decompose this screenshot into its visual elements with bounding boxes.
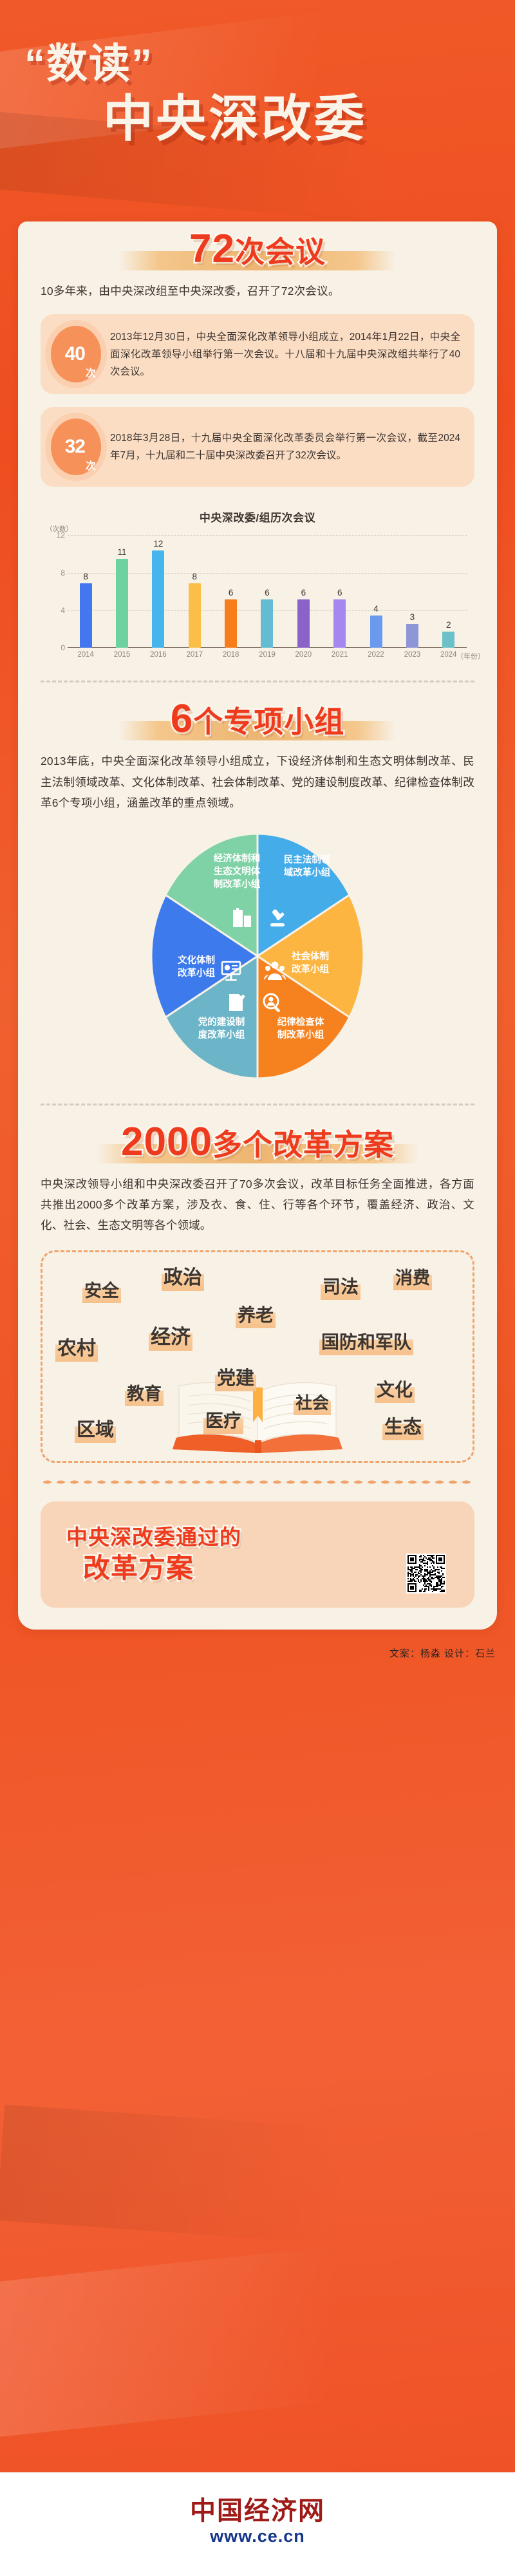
keyword-tag: 司法 bbox=[321, 1273, 360, 1300]
fact-badge-40: 40次 bbox=[51, 326, 101, 382]
chart-x-tick: 2015 bbox=[104, 651, 140, 659]
chart-bar-value: 6 bbox=[265, 588, 270, 597]
qr-code-graphic bbox=[407, 1555, 445, 1592]
chart-bar-value: 8 bbox=[192, 572, 198, 581]
chart-bar-column: 6 bbox=[322, 535, 358, 648]
cta-banner[interactable]: 中央深改委通过的 改革方案 bbox=[41, 1501, 474, 1608]
fact-badge-unit: 次 bbox=[86, 364, 96, 382]
pie-wheel-graphic bbox=[148, 831, 367, 1082]
keyword-tag: 教育 bbox=[125, 1380, 164, 1406]
content-card: 72次会议 10多年来，由中央深改组至中央深改委，召开了72次会议。 40次 2… bbox=[18, 221, 497, 1630]
keyword-tag: 消费 bbox=[393, 1264, 432, 1290]
chart-x-tick: 2020 bbox=[285, 651, 321, 659]
fact-card-32: 32次 2018年3月28日，十九届中央全面深化改革委员会举行第一次会议，截至2… bbox=[41, 407, 474, 487]
chart-y-tick: 8 bbox=[51, 569, 65, 578]
chart-bar-value: 6 bbox=[301, 588, 306, 597]
chart-bar-value: 6 bbox=[337, 588, 342, 597]
qr-code[interactable] bbox=[406, 1554, 446, 1594]
chart-bar-column: 11 bbox=[104, 535, 140, 648]
chart-bar-column: 8 bbox=[176, 535, 212, 648]
fact-badge-number: 32 bbox=[65, 436, 85, 458]
chart-y-tick: 0 bbox=[51, 643, 65, 652]
infographic-poster: “数读” 中央深改委 72次会议 10多年来，由中央深改组至中央深改委，召开了7… bbox=[0, 0, 515, 2472]
chart-bar-column: 8 bbox=[68, 535, 104, 648]
keyword-tag: 文化 bbox=[375, 1376, 415, 1403]
section-divider-2 bbox=[41, 1104, 474, 1105]
poster-header: “数读” 中央深改委 bbox=[0, 0, 515, 212]
plans-intro-paragraph: 中央深改领导小组和中央深改委召开了70多次会议，改革目标任务全面推进，各方面共推… bbox=[41, 1174, 474, 1236]
headline-text: 2000多个改革方案 bbox=[121, 1114, 394, 1172]
chart-x-tick: 2019 bbox=[249, 651, 285, 659]
groups-pie-wheel: 经济体制和生态文明体制改革小组民主法制领域改革小组社会体制改革小组纪律检查体制改… bbox=[148, 831, 367, 1082]
fabric-sheen-3 bbox=[0, 2221, 515, 2440]
chart-bar bbox=[370, 616, 382, 648]
chart-bar-column: 6 bbox=[249, 535, 285, 648]
section-groups-headline: 6个专项小组 bbox=[18, 691, 497, 751]
keyword-tag: 生态 bbox=[382, 1412, 424, 1440]
chart-y-tick: 12 bbox=[51, 531, 65, 540]
site-logo-url: www.ce.cn bbox=[0, 2526, 515, 2546]
headline-number: 6 bbox=[171, 697, 193, 741]
keyword-tag: 党建 bbox=[215, 1363, 256, 1391]
keyword-tag: 养老 bbox=[236, 1301, 276, 1328]
keyword-tag: 社会 bbox=[294, 1390, 331, 1415]
section-meetings-body: 10多年来，由中央深改组至中央深改委，召开了72次会议。 40次 2013年12… bbox=[18, 281, 497, 659]
chart-bar bbox=[152, 550, 164, 648]
dotted-divider bbox=[41, 1480, 474, 1485]
site-logo-name: 中国经济网 bbox=[0, 2498, 515, 2524]
cta-line2: 改革方案 bbox=[83, 1552, 241, 1584]
chart-bar bbox=[442, 632, 454, 648]
keyword-tag: 医疗 bbox=[203, 1407, 243, 1434]
site-logo-bar: 中国经济网 www.ce.cn bbox=[0, 2472, 515, 2576]
fact-text: 2013年12月30日，中央全面深化改革领导小组成立，2014年1月22日，中央… bbox=[110, 328, 460, 381]
chart-plot-area: （次数） （年份） 048128111286666432 bbox=[68, 535, 467, 648]
chart-bar bbox=[80, 583, 92, 648]
headline-text: 72次会议 bbox=[189, 221, 326, 279]
fact-card-40: 40次 2013年12月30日，中央全面深化改革领导小组成立，2014年1月22… bbox=[41, 314, 474, 394]
poster-title-line2: 中央深改委 bbox=[103, 79, 367, 151]
chart-bar-column: 4 bbox=[358, 535, 394, 648]
chart-bar bbox=[333, 599, 346, 648]
keyword-tag: 政治 bbox=[162, 1261, 204, 1291]
chart-bar-value: 4 bbox=[373, 604, 379, 614]
fact-text: 2018年3月28日，十九届中央全面深化改革委员会举行第一次会议，截至2024年… bbox=[110, 429, 460, 464]
chart-x-unit-label: （年份） bbox=[456, 651, 485, 661]
groups-intro-paragraph: 2013年底，中央全面深化改革领导小组成立，下设经济体制和生态文明体制改革、民主… bbox=[41, 751, 474, 813]
section-plans-headline: 2000多个改革方案 bbox=[18, 1114, 497, 1174]
fact-badge-32: 32次 bbox=[51, 418, 101, 475]
cta-line1: 中央深改委通过的 bbox=[66, 1524, 241, 1551]
section-divider-1 bbox=[41, 681, 474, 682]
chart-bar-value: 8 bbox=[83, 572, 88, 581]
chart-bar-column: 6 bbox=[285, 535, 321, 648]
headline-suffix: 多个改革方案 bbox=[212, 1128, 394, 1161]
keyword-tag: 安全 bbox=[82, 1277, 121, 1303]
headline-text: 6个专项小组 bbox=[171, 691, 344, 749]
cta-text-block: 中央深改委通过的 改革方案 bbox=[66, 1524, 241, 1584]
headline-suffix: 个专项小组 bbox=[193, 705, 344, 738]
headline-suffix: 次会议 bbox=[235, 235, 326, 268]
chart-bar-column: 3 bbox=[394, 535, 430, 648]
headline-number: 2000 bbox=[121, 1120, 212, 1164]
chart-bar-column: 2 bbox=[431, 535, 467, 648]
chart-x-tick: 2023 bbox=[394, 651, 430, 659]
keyword-tag: 经济 bbox=[149, 1321, 192, 1351]
fact-badge-unit: 次 bbox=[86, 457, 96, 475]
chart-x-axis: 2014201520162017201820192020202120222023… bbox=[68, 651, 467, 659]
chart-x-tick: 2021 bbox=[322, 651, 358, 659]
chart-bar bbox=[225, 599, 237, 648]
chart-bar-value: 12 bbox=[153, 539, 163, 549]
chart-bar bbox=[116, 559, 128, 648]
section-plans-body: 中央深改领导小组和中央深改委召开了70多次会议，改革目标任务全面推进，各方面共推… bbox=[18, 1174, 497, 1236]
chart-bar bbox=[261, 599, 273, 648]
headline-number: 72 bbox=[189, 227, 235, 271]
fabric-sheen-4 bbox=[0, 2105, 515, 2261]
groups-wheel-wrap: 经济体制和生态文明体制改革小组民主法制领域改革小组社会体制改革小组纪律检查体制改… bbox=[18, 831, 497, 1082]
chart-title: 中央深改委/组历次会议 bbox=[41, 509, 474, 525]
meetings-intro-paragraph: 10多年来，由中央深改组至中央深改委，召开了72次会议。 bbox=[41, 281, 474, 301]
chart-bar-column: 12 bbox=[140, 535, 176, 648]
credits-line: 文案：杨淼 设计：石兰 bbox=[0, 1630, 515, 1660]
chart-y-tick: 4 bbox=[51, 606, 65, 615]
section-groups-body: 2013年底，中央全面深化改革领导小组成立，下设经济体制和生态文明体制改革、民主… bbox=[18, 751, 497, 813]
chart-bar-value: 3 bbox=[410, 612, 415, 622]
fact-badge-number: 40 bbox=[65, 343, 85, 365]
keyword-tag: 农村 bbox=[55, 1332, 98, 1362]
section-meetings-headline: 72次会议 bbox=[18, 221, 497, 281]
reform-keyword-cloud: 安全政治司法消费养老经济农村国防和军队党建教育社会文化医疗区域生态 bbox=[41, 1250, 474, 1463]
chart-bar bbox=[189, 583, 201, 648]
meetings-bar-chart: 中央深改委/组历次会议 （次数） （年份） 048128111286666432… bbox=[41, 509, 474, 659]
chart-x-tick: 2018 bbox=[212, 651, 248, 659]
chart-bar bbox=[406, 624, 418, 648]
chart-bar-column: 6 bbox=[212, 535, 248, 648]
chart-bars: 8111286666432 bbox=[68, 535, 467, 648]
keyword-tag: 区域 bbox=[75, 1415, 116, 1443]
chart-x-tick: 2017 bbox=[176, 651, 212, 659]
chart-bar bbox=[297, 599, 310, 648]
chart-x-tick: 2014 bbox=[68, 651, 104, 659]
keyword-tag: 国防和军队 bbox=[319, 1328, 413, 1355]
chart-bar-value: 6 bbox=[229, 588, 234, 597]
chart-bar-value: 11 bbox=[118, 547, 127, 557]
chart-bar-value: 2 bbox=[446, 620, 451, 630]
chart-x-tick: 2016 bbox=[140, 651, 176, 659]
chart-x-tick: 2022 bbox=[358, 651, 394, 659]
